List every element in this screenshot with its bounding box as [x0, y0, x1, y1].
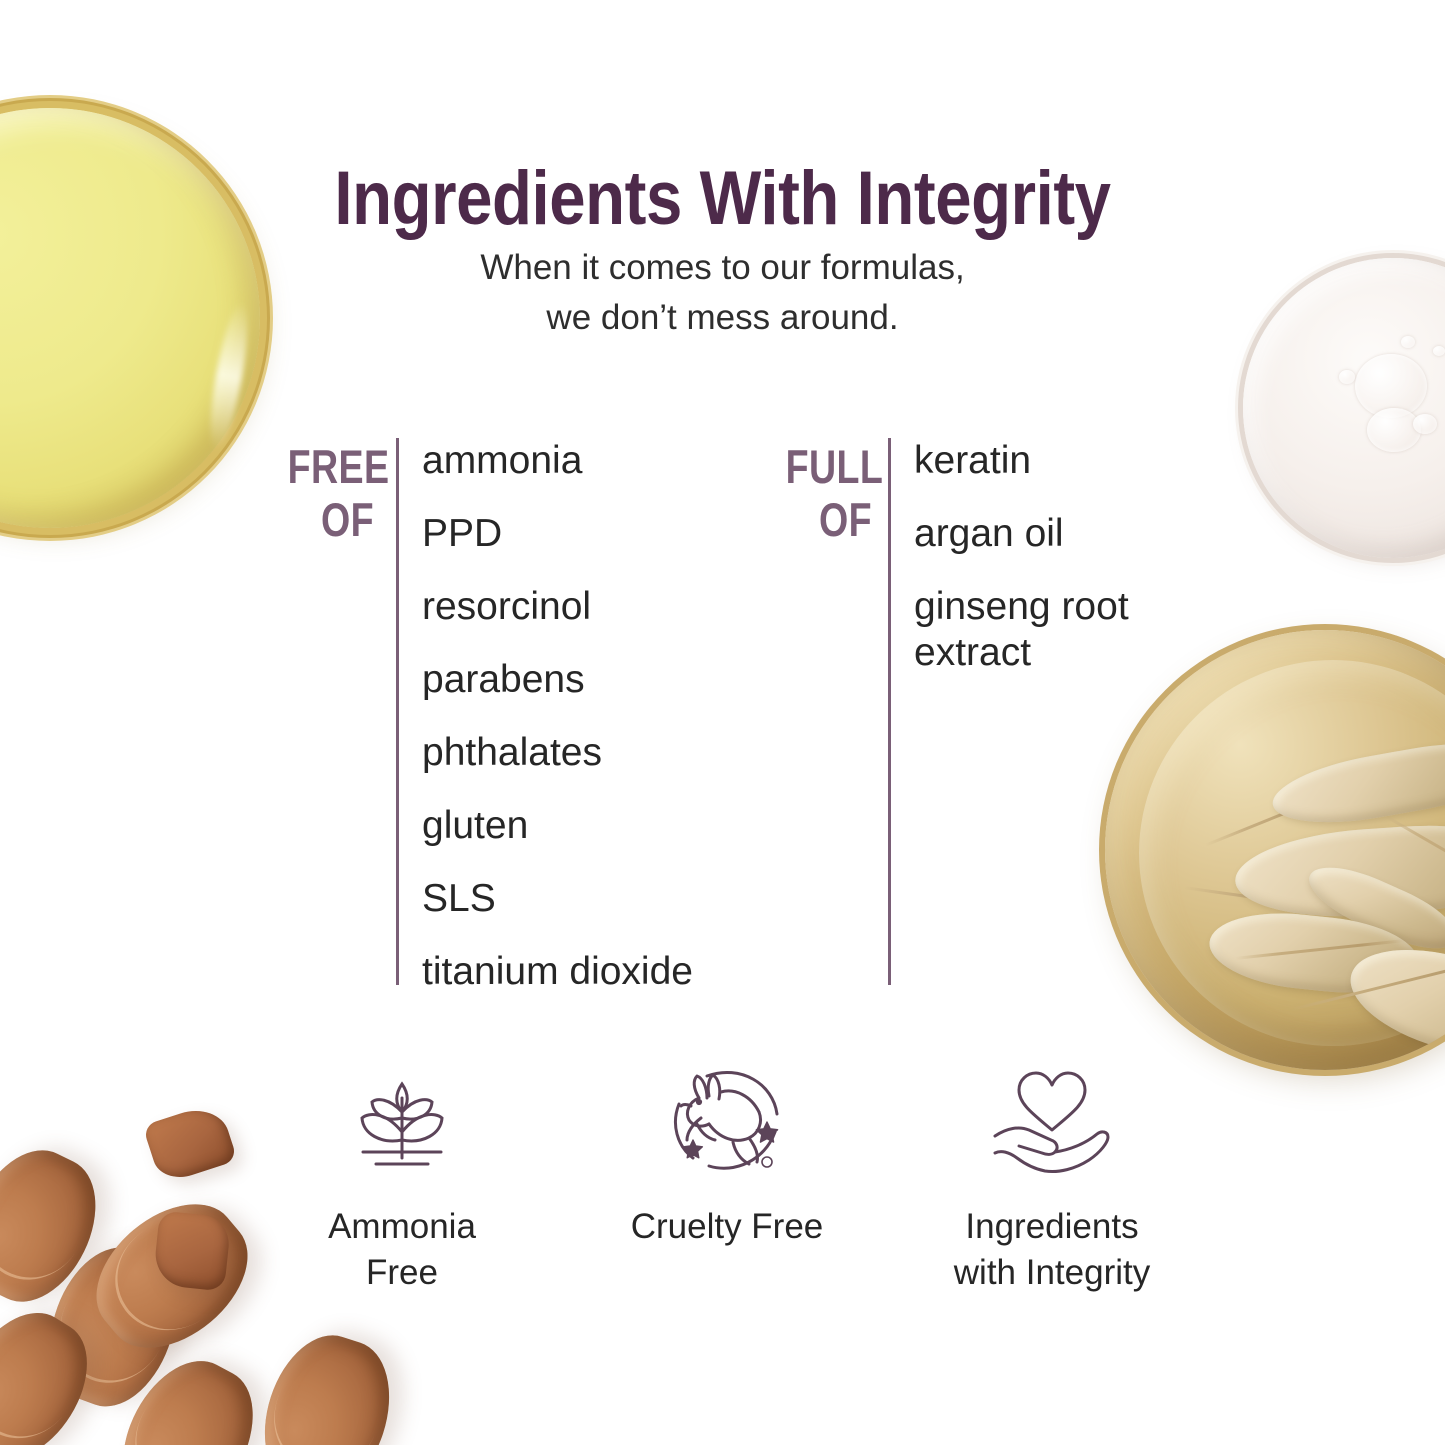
full-of-divider [888, 438, 891, 985]
badge-ingredients-integrity: Ingredients with Integrity [902, 1060, 1202, 1296]
ingredients-integrity-panel: Ingredients With Integrity When it comes… [0, 0, 1445, 1445]
heart-in-hand-icon [989, 1060, 1115, 1180]
badge-label-line-1: Ammonia [328, 1204, 476, 1250]
full-of-label: FULL OF [786, 440, 872, 546]
free-of-label-line-1: FREE [288, 440, 374, 493]
full-of-label-line-2: OF [786, 493, 872, 546]
certification-badges: Ammonia Free [252, 1060, 1202, 1296]
list-item: keratin [914, 438, 1214, 511]
badge-label: Ingredients with Integrity [954, 1204, 1150, 1296]
badge-label: Ammonia Free [328, 1204, 476, 1296]
badge-label-line-2: with Integrity [954, 1250, 1150, 1296]
list-item: argan oil [914, 511, 1214, 584]
badge-ammonia-free: Ammonia Free [252, 1060, 552, 1296]
subtitle-line-2: we don’t mess around. [0, 293, 1445, 343]
sprout-plant-icon [343, 1060, 461, 1180]
badge-label-line-1: Cruelty Free [631, 1204, 824, 1250]
free-of-list: ammonia PPD resorcinol parabens phthalat… [422, 438, 693, 1022]
subtitle-line-1: When it comes to our formulas, [0, 243, 1445, 293]
full-of-list: keratin argan oil ginseng root extract [914, 438, 1214, 730]
list-item: SLS [422, 876, 693, 949]
badge-label-line-1: Ingredients [954, 1204, 1150, 1250]
free-of-label-line-2: OF [288, 493, 374, 546]
list-item: phthalates [422, 730, 693, 803]
list-item: parabens [422, 657, 693, 730]
full-of-label-line-1: FULL [786, 440, 872, 493]
free-of-divider [396, 438, 399, 985]
list-item: PPD [422, 511, 693, 584]
list-item: ammonia [422, 438, 693, 511]
list-item: ginseng root extract [914, 584, 1214, 730]
list-item: titanium dioxide [422, 949, 693, 1022]
subtitle: When it comes to our formulas, we don’t … [0, 243, 1445, 343]
badge-label: Cruelty Free [631, 1204, 824, 1250]
list-item: gluten [422, 803, 693, 876]
page-title: Ingredients With Integrity [101, 155, 1344, 242]
badge-label-line-2: Free [328, 1250, 476, 1296]
badge-cruelty-free: Cruelty Free [577, 1060, 877, 1296]
leaping-bunny-icon [663, 1060, 791, 1180]
free-of-label: FREE OF [288, 440, 374, 546]
list-item: resorcinol [422, 584, 693, 657]
